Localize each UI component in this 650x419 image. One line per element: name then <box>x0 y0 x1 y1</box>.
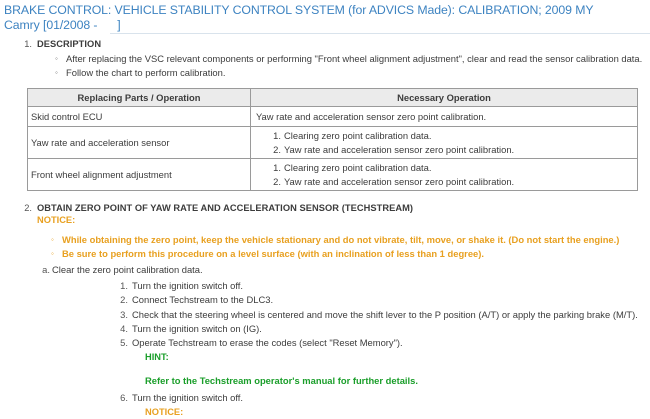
list-number: 2. <box>271 143 281 157</box>
section-number: 1. <box>20 39 32 49</box>
title-divider <box>110 33 650 34</box>
list-number: 1. <box>118 279 128 293</box>
list-number: 6. <box>118 391 128 405</box>
list-item: 1. Turn the ignition switch off. <box>52 279 650 293</box>
circle-bullet-icon: ◦ <box>51 233 54 247</box>
hint-block: HINT: Refer to the Techstream operator's… <box>145 350 650 388</box>
notice-label: NOTICE: <box>37 215 650 225</box>
cell-replacing-part: Yaw rate and acceleration sensor <box>28 127 251 159</box>
list-item-text: Clearing zero point calibration data. <box>284 130 431 141</box>
list-item-text: Yaw rate and acceleration sensor zero po… <box>284 144 514 155</box>
list-item: 1. Clearing zero point calibration data. <box>253 129 635 143</box>
list-item-text: Operate Techstream to erase the codes (s… <box>132 337 403 348</box>
list-number: 1. <box>271 161 281 175</box>
circle-bullet-icon: ◦ <box>55 52 58 66</box>
procedure-alpha-list: a. Clear the zero point calibration data… <box>0 263 650 419</box>
list-item: a. Clear the zero point calibration data… <box>0 263 650 419</box>
section-title: DESCRIPTION <box>37 39 650 49</box>
hint-text: Refer to the Techstream operator's manua… <box>145 374 650 388</box>
list-item-text: Clearing zero point calibration data. <box>284 162 431 173</box>
table-row: Yaw rate and acceleration sensor 1. Clea… <box>28 127 638 159</box>
list-item-text: Check that the steering wheel is centere… <box>132 309 638 320</box>
list-item: ◦ Be sure to perform this procedure on a… <box>0 247 650 261</box>
section-number: 2. <box>20 203 32 213</box>
list-item: 2. Yaw rate and acceleration sensor zero… <box>253 175 635 189</box>
list-item: 5. Operate Techstream to erase the codes… <box>52 336 650 389</box>
section-title: OBTAIN ZERO POINT OF YAW RATE AND ACCELE… <box>37 203 650 213</box>
page-title: BRAKE CONTROL: VEHICLE STABILITY CONTROL… <box>0 0 650 32</box>
column-header-necessary-operation: Necessary Operation <box>251 89 638 107</box>
list-item-text: Be sure to perform this procedure on a l… <box>62 248 484 259</box>
list-item: ◦ After replacing the VSC relevant compo… <box>0 52 650 66</box>
procedure-step-list: 1. Turn the ignition switch off. 2. Conn… <box>52 279 650 419</box>
list-item-text: Follow the chart to perform calibration. <box>66 67 225 78</box>
cell-necessary-operation: Yaw rate and acceleration sensor zero po… <box>251 107 638 127</box>
operation-list: 1. Clearing zero point calibration data.… <box>253 129 635 156</box>
list-item-text: Yaw rate and acceleration sensor zero po… <box>284 176 514 187</box>
document-page: BRAKE CONTROL: VEHICLE STABILITY CONTROL… <box>0 0 650 414</box>
hint-label: HINT: <box>145 350 650 364</box>
section-description: 1. DESCRIPTION ◦ After replacing the VSC… <box>0 39 650 191</box>
list-item: 2. Yaw rate and acceleration sensor zero… <box>253 143 635 157</box>
list-number: 2. <box>271 175 281 189</box>
list-number: 1. <box>271 129 281 143</box>
circle-bullet-icon: ◦ <box>51 247 54 261</box>
calibration-table: Replacing Parts / Operation Necessary Op… <box>27 88 638 191</box>
table-row: Skid control ECU Yaw rate and accelerati… <box>28 107 638 127</box>
list-number: 4. <box>118 322 128 336</box>
list-item-text: Turn the ignition switch off. <box>132 392 243 403</box>
list-number: 2. <box>118 293 128 307</box>
operation-list: 1. Clearing zero point calibration data.… <box>253 161 635 188</box>
cell-necessary-operation: 1. Clearing zero point calibration data.… <box>251 159 638 191</box>
list-number: 3. <box>118 308 128 322</box>
list-item-text: Connect Techstream to the DLC3. <box>132 294 273 305</box>
table-header-row: Replacing Parts / Operation Necessary Op… <box>28 89 638 107</box>
list-item: 2. Connect Techstream to the DLC3. <box>52 293 650 307</box>
list-item-text: After replacing the VSC relevant compone… <box>66 53 642 64</box>
section-obtain-zero-point: 2. OBTAIN ZERO POINT OF YAW RATE AND ACC… <box>0 203 650 419</box>
list-item: 1. Clearing zero point calibration data. <box>253 161 635 175</box>
list-item-text: Turn the ignition switch off. <box>132 280 243 291</box>
notice-label: NOTICE: <box>145 405 650 419</box>
description-bullet-list: ◦ After replacing the VSC relevant compo… <box>0 52 650 80</box>
list-item: 6. Turn the ignition switch off. NOTICE: <box>52 391 650 419</box>
cell-replacing-part: Front wheel alignment adjustment <box>28 159 251 191</box>
table-row: Front wheel alignment adjustment 1. Clea… <box>28 159 638 191</box>
list-item: 4. Turn the ignition switch on (IG). <box>52 322 650 336</box>
list-item: 3. Check that the steering wheel is cent… <box>52 308 650 322</box>
list-item-text: Clear the zero point calibration data. <box>52 264 203 275</box>
circle-bullet-icon: ◦ <box>55 66 58 80</box>
notice-bullet-list: ◦ While obtaining the zero point, keep t… <box>0 233 650 261</box>
list-letter: a. <box>42 263 50 277</box>
list-item: ◦ While obtaining the zero point, keep t… <box>0 233 650 247</box>
trailing-notice-block: NOTICE: <box>145 405 650 419</box>
list-item-text: Turn the ignition switch on (IG). <box>132 323 262 334</box>
list-item: ◦ Follow the chart to perform calibratio… <box>0 66 650 80</box>
cell-replacing-part: Skid control ECU <box>28 107 251 127</box>
list-item-text: While obtaining the zero point, keep the… <box>62 234 619 245</box>
column-header-replacing-parts: Replacing Parts / Operation <box>28 89 251 107</box>
cell-necessary-operation: 1. Clearing zero point calibration data.… <box>251 127 638 159</box>
list-number: 5. <box>118 336 128 350</box>
operation-text: Yaw rate and acceleration sensor zero po… <box>253 110 635 124</box>
